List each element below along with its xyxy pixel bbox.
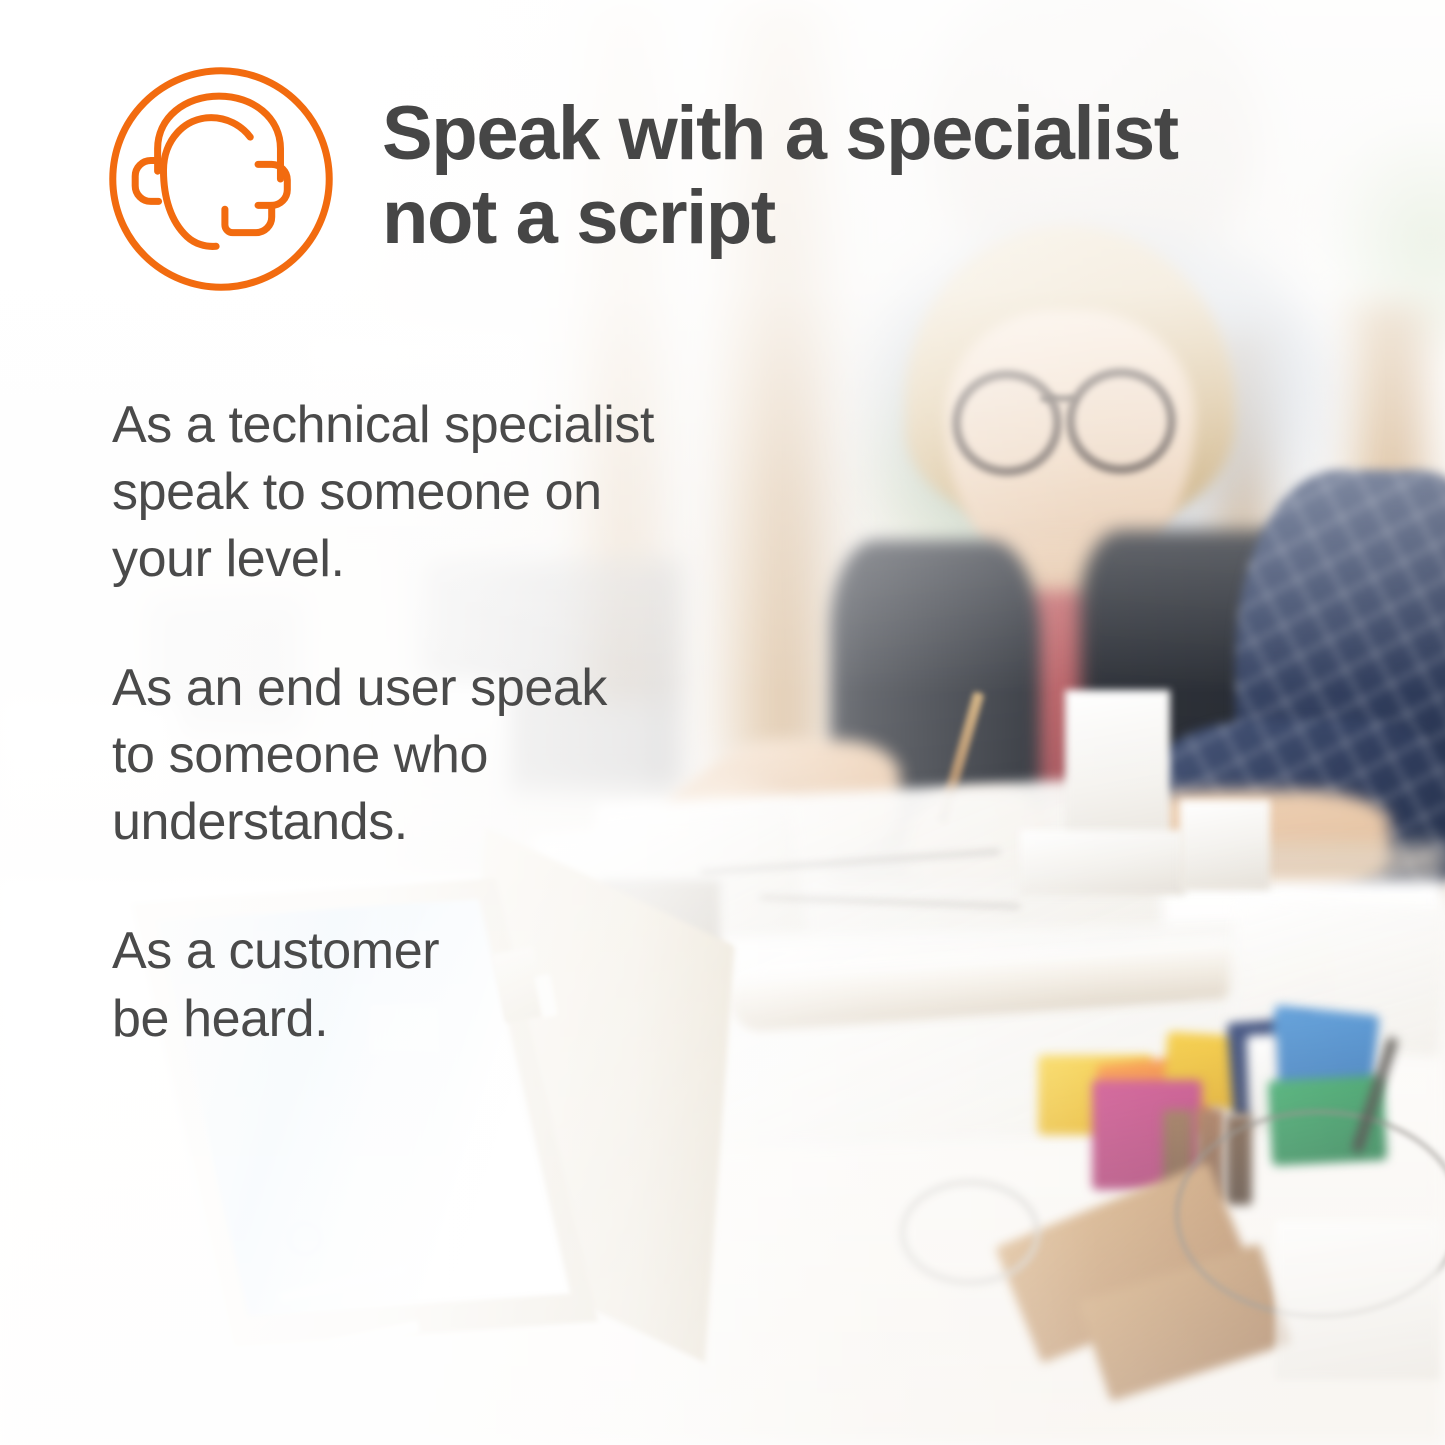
paragraph-customer: As a customer be heard. — [112, 918, 812, 1052]
marketing-poster: Speak with a specialist not a script As … — [0, 0, 1445, 1445]
paragraph-technical-specialist: As a technical specialist speak to someo… — [112, 392, 812, 593]
paragraph-end-user: As an end user speak to someone who unde… — [112, 655, 812, 856]
page-title: Speak with a specialist not a script — [382, 62, 1178, 259]
body-copy: As a technical specialist speak to someo… — [112, 392, 812, 1053]
headset-support-icon — [104, 62, 338, 296]
poster-content: Speak with a specialist not a script As … — [0, 0, 1445, 1445]
brand-header: Speak with a specialist not a script — [104, 62, 1178, 296]
